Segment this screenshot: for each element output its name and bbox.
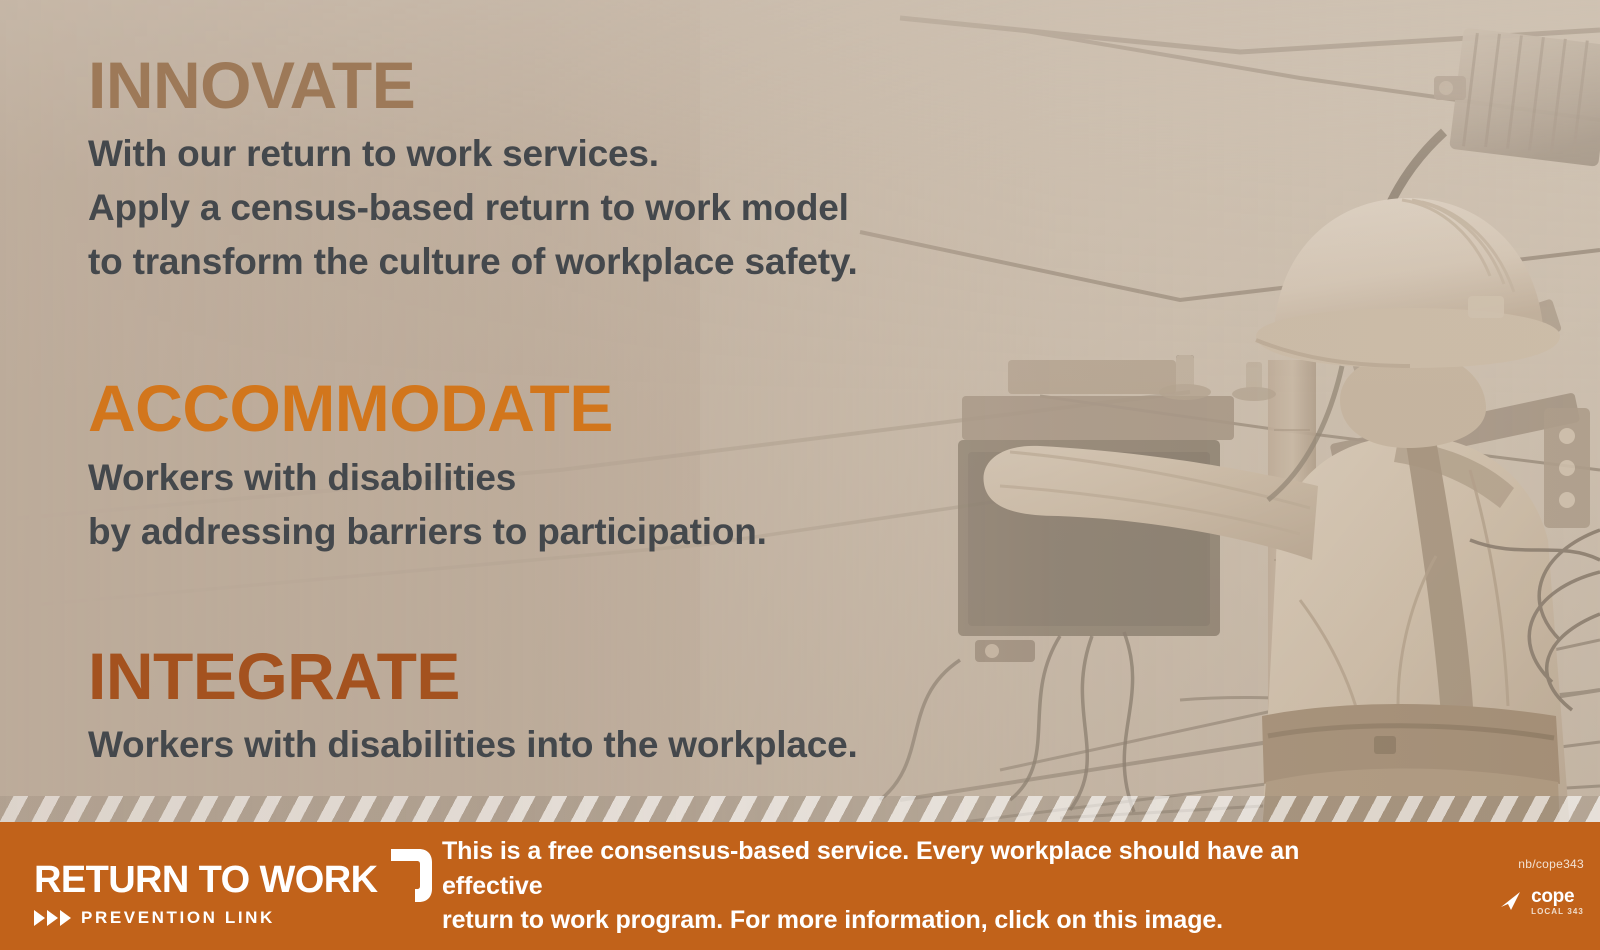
return-hook-icon [387,845,433,903]
headline-accommodate: ACCOMMODATE [88,375,1068,442]
headline-innovate: INNOVATE [88,52,1068,119]
cope-swoosh-icon [1500,891,1526,911]
section-integrate: INTEGRATE Workers with disabilities into… [88,643,1068,772]
section-innovate: INNOVATE With our return to work service… [88,52,1068,289]
message-column: INNOVATE With our return to work service… [88,52,1068,772]
poster-root[interactable]: INNOVATE With our return to work service… [0,0,1600,950]
body-line: Apply a census-based return to work mode… [88,181,1068,235]
body-integrate: Workers with disabilities into the workp… [88,718,1068,772]
chevron-right-icon [60,910,71,926]
logo-wordmark: RETURN TO WORK [34,861,377,899]
body-innovate: With our return to work services. Apply … [88,127,1068,289]
headline-integrate: INTEGRATE [88,643,1068,710]
body-line: Workers with disabilities [88,451,1068,505]
footer-credit: nb/cope343 cope LOCAL 343 [1384,857,1600,916]
logo-subtext: PREVENTION LINK [81,908,275,928]
chevron-right-icon [34,910,45,926]
cope-name: cope [1531,887,1584,906]
hazard-stripe-divider [0,796,1600,822]
body-line: by addressing barriers to participation. [88,505,1068,559]
body-line: With our return to work services. [88,127,1068,181]
footer-message: This is a free consensus-based service. … [400,834,1384,938]
chevron-right-icon [47,910,58,926]
cope-local: LOCAL 343 [1531,908,1584,916]
body-line: to transform the culture of workplace sa… [88,235,1068,289]
footer-bar[interactable]: RETURN TO WORK PREVENTION LINK This is a… [0,822,1600,950]
body-line: Workers with disabilities into the workp… [88,718,1068,772]
cope-union-logo: cope LOCAL 343 [1500,887,1584,916]
footer-message-line-2: return to work program. For more informa… [442,903,1364,938]
return-to-work-logo[interactable]: RETURN TO WORK PREVENTION LINK [0,845,400,928]
chevron-group [34,910,71,926]
section-accommodate: ACCOMMODATE Workers with disabilities by… [88,375,1068,558]
credit-code: nb/cope343 [1518,857,1584,871]
body-accommodate: Workers with disabilities by addressing … [88,451,1068,559]
footer-message-line-1: This is a free consensus-based service. … [442,834,1364,903]
